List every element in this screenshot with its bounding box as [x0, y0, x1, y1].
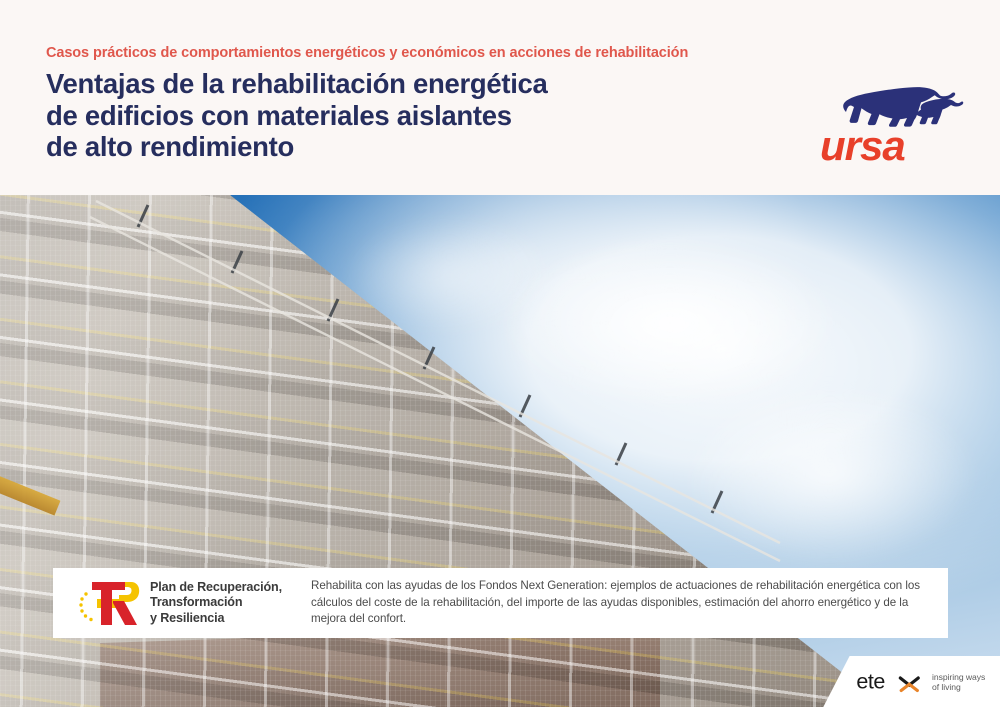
etex-wordmark-icon: ete	[856, 669, 924, 695]
plan-recuperacion-logo: Plan de Recuperación, Transformación y R…	[53, 568, 311, 638]
page-header: Casos prácticos de comportamientos energ…	[0, 0, 1000, 195]
header-text-block: Casos prácticos de comportamientos energ…	[46, 44, 786, 163]
tr-monogram-icon	[77, 577, 141, 629]
etex-tagline: inspiring ways of living	[932, 672, 985, 692]
eyebrow-subtitle: Casos prácticos de comportamientos energ…	[46, 44, 786, 62]
info-bar-description: Rehabilita con las ayudas de los Fondos …	[311, 578, 948, 628]
etex-tagline-line-2: of living	[932, 682, 985, 692]
svg-text:ete: ete	[856, 670, 885, 694]
page-title-line-2: de edificios con materiales aislantes	[46, 100, 786, 132]
plan-label-line-3: y Resiliencia	[150, 611, 282, 626]
etex-tagline-line-1: inspiring ways	[932, 672, 985, 682]
plan-label-line-2: Transformación	[150, 595, 282, 610]
info-bar-description-text: Rehabilita con las ayudas de los Fondos …	[311, 578, 930, 628]
ursa-wordmark: ursa	[818, 122, 978, 170]
page-title-line-3: de alto rendimiento	[46, 131, 786, 163]
page-title-line-1: Ventajas de la rehabilitación energética	[46, 68, 786, 100]
ursa-logo: ursa	[818, 82, 978, 170]
page-title: Ventajas de la rehabilitación energética…	[46, 68, 786, 163]
plan-label-line-1: Plan de Recuperación,	[150, 580, 282, 595]
svg-text:ursa: ursa	[820, 122, 905, 169]
info-bar: Plan de Recuperación, Transformación y R…	[53, 568, 948, 638]
document-cover-page: Casos prácticos de comportamientos energ…	[0, 0, 1000, 707]
etex-logo: ete inspiring ways of living	[856, 669, 985, 695]
plan-recuperacion-label: Plan de Recuperación, Transformación y R…	[150, 580, 282, 626]
